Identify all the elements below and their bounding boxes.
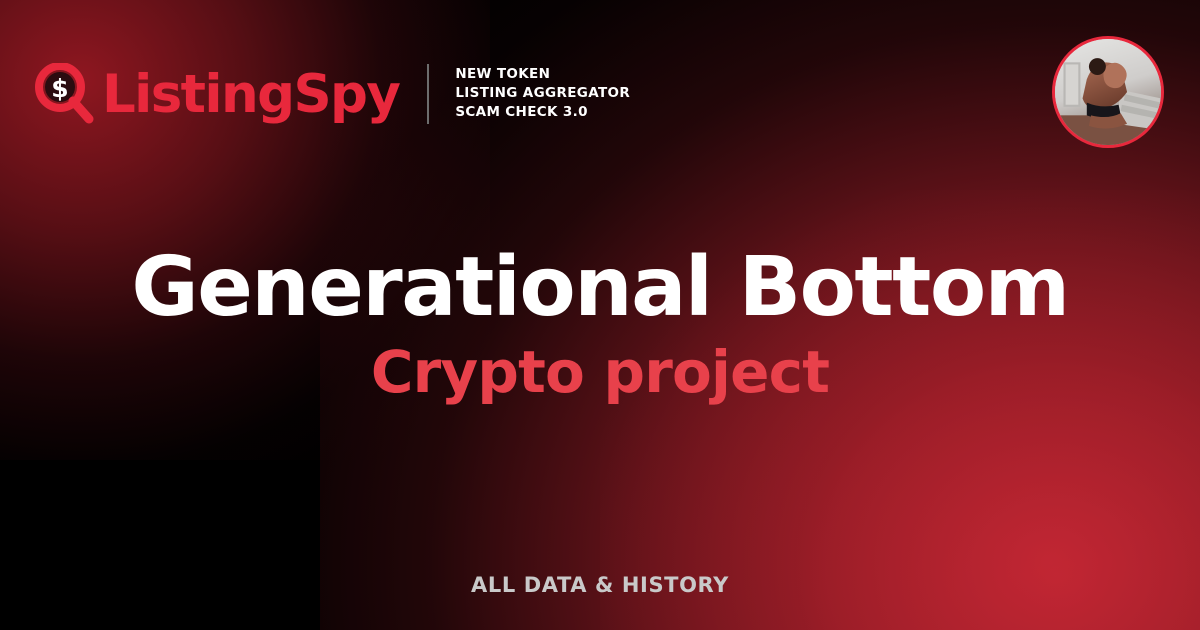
brand-name: ListingSpy [102,68,399,121]
magnifier-dollar-icon: $ [34,63,96,125]
svg-text:$: $ [51,74,68,103]
header-divider [427,64,429,124]
tagline-line-2: LISTING AGGREGATOR [455,86,630,102]
footer-caption: ALL DATA & HISTORY [0,573,1200,597]
tagline-line-3: SCAM CHECK 3.0 [455,105,630,121]
main-content: Generational Bottom Crypto project [0,245,1200,404]
avatar[interactable] [1052,36,1164,148]
brand-header[interactable]: $ ListingSpy NEW TOKEN LISTING AGGREGATO… [34,52,630,136]
tagline-line-1: NEW TOKEN [455,67,630,83]
page-subtitle: Crypto project [40,342,1160,403]
page-title: Generational Bottom [40,245,1160,330]
brand-tagline: NEW TOKEN LISTING AGGREGATOR SCAM CHECK … [455,67,630,121]
social-share-card: $ ListingSpy NEW TOKEN LISTING AGGREGATO… [0,0,1200,630]
